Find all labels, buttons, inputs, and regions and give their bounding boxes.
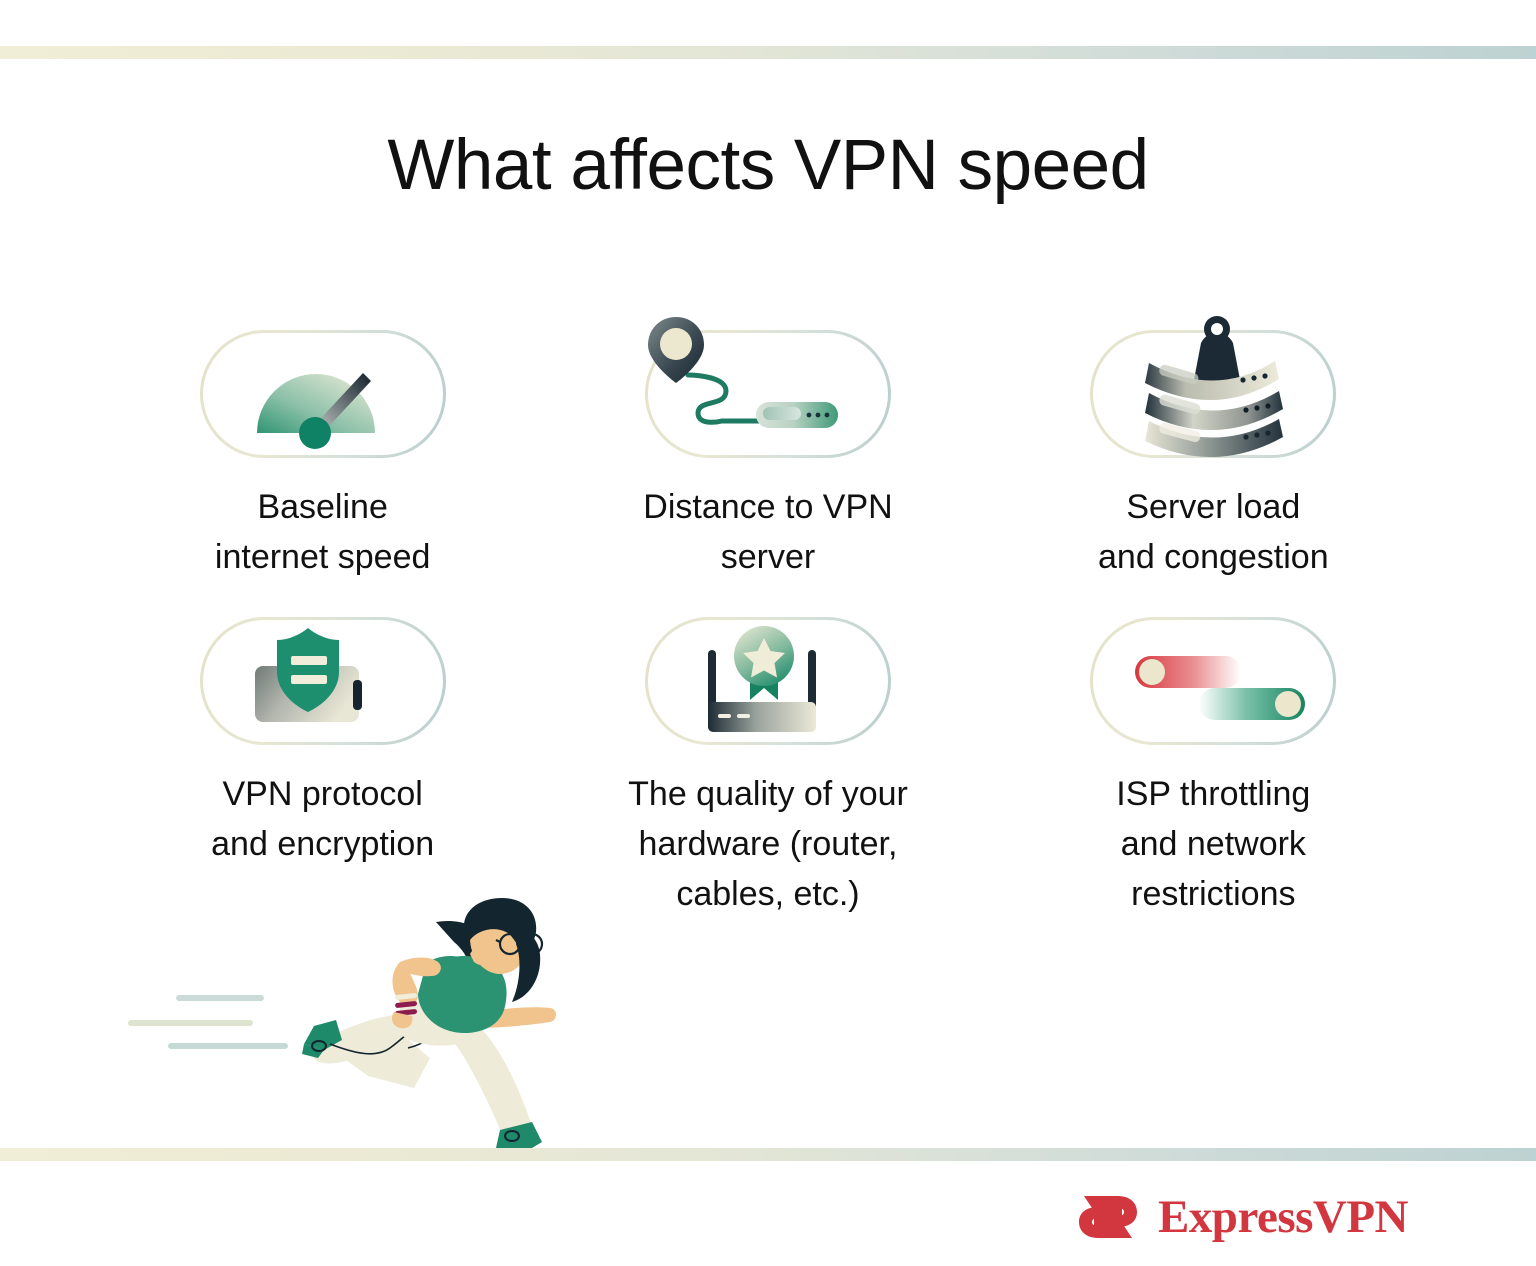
infographic-page: What affects VPN speed — [0, 0, 1536, 1266]
factor-label: VPN protocol and encryption — [211, 769, 434, 869]
factor-card-server-load-and-congestion: Server load and congestion — [991, 330, 1436, 582]
page-title: What affects VPN speed — [0, 125, 1536, 206]
toggle-switches-icon — [1083, 590, 1343, 748]
expressvpn-e-mark-icon — [1074, 1184, 1142, 1250]
router-with-badge-icon — [638, 590, 898, 748]
speed-line — [128, 1020, 253, 1026]
factor-card-vpn-protocol-and-encryption: VPN protocol and encryption — [100, 617, 545, 919]
icon-pill — [1090, 330, 1336, 458]
location-pin-to-server-icon — [638, 303, 898, 461]
weight-on-servers-icon — [1083, 303, 1343, 461]
factor-label: The quality of your hardware (router, ca… — [628, 769, 908, 919]
factor-card-isp-throttling: ISP throttling and network restrictions — [991, 617, 1436, 919]
factor-label: Server load and congestion — [1098, 482, 1329, 582]
factor-card-baseline-internet-speed: Baseline internet speed — [100, 330, 545, 582]
expressvpn-logo: ExpressVPN — [1074, 1184, 1408, 1250]
factor-card-distance-to-vpn-server: Distance to VPN server — [545, 330, 990, 582]
icon-pill — [645, 330, 891, 458]
factor-label: ISP throttling and network restrictions — [1116, 769, 1310, 919]
factor-label: Baseline internet speed — [215, 482, 431, 582]
running-woman-illustration — [118, 898, 598, 1160]
icon-pill — [200, 617, 446, 745]
bottom-gradient-rule — [0, 1148, 1536, 1161]
top-gradient-rule — [0, 46, 1536, 59]
speedometer-icon — [193, 303, 453, 461]
factors-grid: Baseline internet speed — [100, 330, 1436, 919]
speed-line — [176, 995, 264, 1001]
factor-label: Distance to VPN server — [643, 482, 892, 582]
icon-pill — [645, 617, 891, 745]
factor-card-quality-of-hardware: The quality of your hardware (router, ca… — [545, 617, 990, 919]
shield-on-device-icon — [193, 590, 453, 748]
icon-pill — [1090, 617, 1336, 745]
brand-name: ExpressVPN — [1158, 1194, 1408, 1241]
icon-pill — [200, 330, 446, 458]
speed-line — [168, 1043, 288, 1049]
